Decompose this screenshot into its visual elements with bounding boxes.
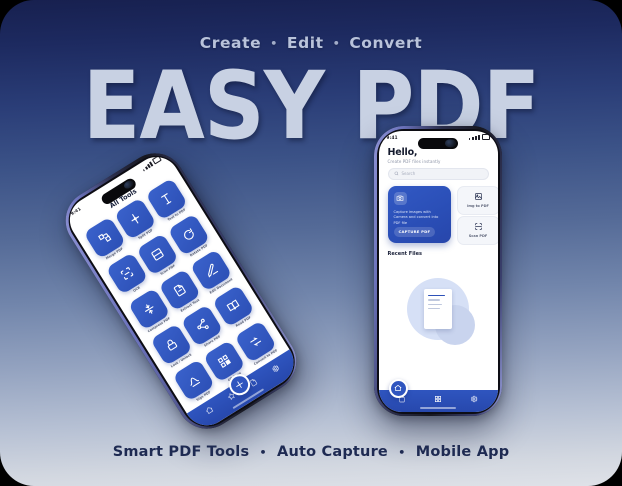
doc-line [428,299,440,300]
search-icon [394,171,399,176]
tile-label: Img to PDF [467,204,489,208]
doc-line [428,295,445,296]
image-to-pdf-icon [474,192,483,201]
signal-bar-icon [475,136,477,140]
tool-label: OCR [133,286,141,293]
tile-scan-pdf[interactable]: Scan PDF [457,216,498,245]
grid-icon[interactable] [433,394,442,403]
phone-screen-all-tools: 9:41 All Tools Mer [61,148,302,433]
greeting-subtitle: Create PDF files instantly [388,159,489,164]
tile-img-to-pdf[interactable]: Img to PDF [457,186,498,215]
home-icon[interactable] [203,404,215,416]
doc-line [428,304,442,305]
status-time: 9:41 [387,135,398,140]
tagline: Create • Edit • Convert [0,34,622,52]
document-empty-state-icon [424,289,452,329]
settings-icon[interactable] [270,362,282,374]
search-placeholder: Search [402,171,416,176]
footer-part-3: Mobile App [416,444,510,460]
tagline-part-2: Edit [287,34,324,52]
promo-poster: Create • Edit • Convert EASY PDF 9:41 [0,0,622,486]
tagline-separator-2: • [333,37,341,50]
battery-icon [152,156,162,165]
home-header: Hello, Create PDF files instantly [388,147,489,165]
footer-separator-2: • [398,446,405,459]
scan-pdf-icon [474,222,483,231]
tagline-part-1: Create [200,34,262,52]
front-camera-icon [445,140,455,147]
signal-bar-icon [478,135,480,140]
status-icons [469,134,490,139]
dynamic-island [418,138,458,150]
doc-line [428,308,440,309]
footer-part-1: Smart PDF Tools [113,444,250,460]
settings-icon[interactable] [469,394,478,403]
signal-bar-icon [145,166,148,169]
page-title: EASY PDF [0,60,622,154]
phone-screen-home: 9:41 Hello, Create PDF files instantly S [379,131,498,412]
status-time: 9:41 [69,206,81,216]
home-fab-button[interactable] [389,379,408,398]
capture-promo-card[interactable]: Capture images with Camera and convert i… [388,186,451,243]
tagline-part-3: Convert [349,34,422,52]
battery-icon [482,134,490,139]
promo-description: Capture images with Camera and convert i… [394,210,445,227]
footer-part-2: Auto Capture [277,444,388,460]
phone-mockup-home: 9:41 Hello, Create PDF files instantly S [374,126,502,416]
home-indicator [420,407,456,409]
tagline-separator-1: • [270,37,278,50]
signal-bar-icon [472,137,474,140]
tile-label: Scan PDF [469,234,488,238]
recent-files-title: Recent Files [388,251,423,257]
signal-bar-icon [469,138,471,140]
search-input[interactable]: Search [388,168,489,180]
capture-pdf-button[interactable]: CAPTURE PDF [394,227,436,237]
recent-files-empty-state [388,262,489,357]
footer-separator-1: • [260,446,267,459]
signal-bar-icon [142,169,145,172]
camera-icon [394,192,407,205]
phone-mockup-all-tools: 9:41 All Tools Mer [54,142,307,440]
footer-features: Smart PDF Tools • Auto Capture • Mobile … [0,444,622,460]
